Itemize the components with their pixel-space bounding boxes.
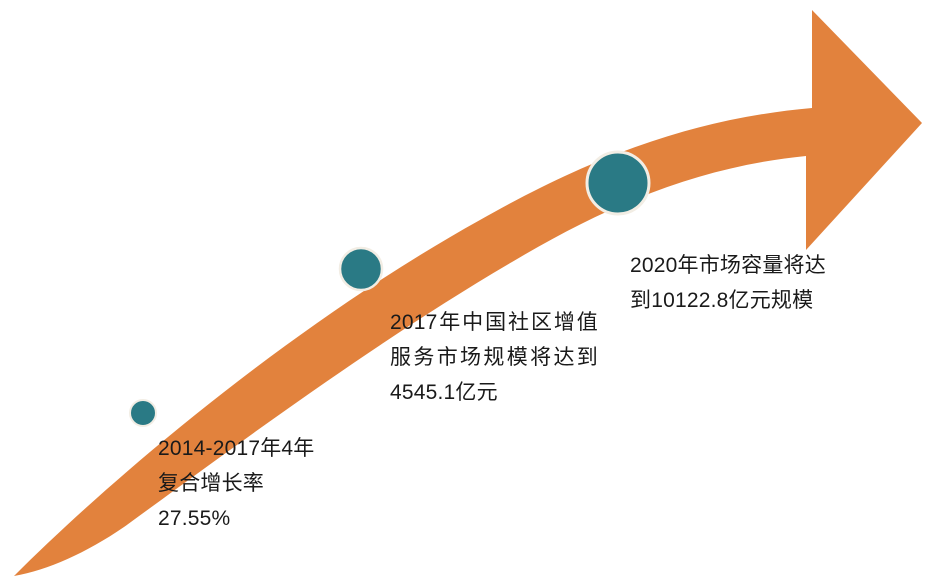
- marker-2020-circle: [587, 152, 649, 214]
- callout-2017-market-size: 2017年中国社区增值服务市场规模将达到4545.1亿元: [390, 305, 598, 410]
- marker-2017-circle: [340, 248, 382, 290]
- marker-2014-circle: [130, 400, 156, 426]
- callout-cagr: 2014-2017年4年 复合增长率 27.55%: [158, 431, 388, 536]
- growth-arrow-infographic: 2014-2017年4年 复合增长率 27.55% 2017年中国社区增值服务市…: [0, 0, 939, 580]
- callout-2020-market-capacity: 2020年市场容量将达到10122.8亿元规模: [630, 248, 840, 318]
